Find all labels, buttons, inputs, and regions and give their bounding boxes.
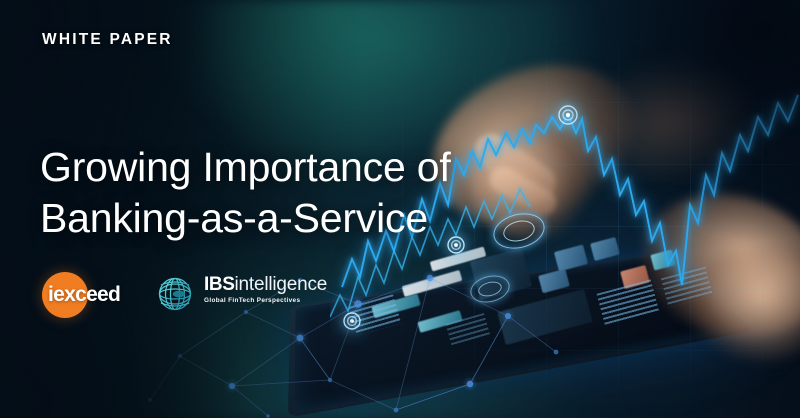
headline-line-1: Growing Importance of [40, 142, 451, 193]
ibs-tagline: Global FinTech Perspectives [204, 297, 327, 304]
iexceed-wordmark: iexceed [48, 283, 120, 307]
headline-line-2: Banking-as-a-Service [40, 193, 451, 244]
iexceed-logo: iexceed [42, 270, 152, 320]
globe-icon [152, 271, 198, 317]
white-paper-cover: WHITE PAPER Growing Importance of Bankin… [0, 0, 800, 418]
ibs-intelligence-logo: IBSintelligence Global FinTech Perspecti… [152, 268, 362, 322]
cover-content: WHITE PAPER Growing Importance of Bankin… [0, 0, 800, 418]
ibs-wordmark: IBSintelligence Global FinTech Perspecti… [204, 274, 327, 304]
eyebrow-label: WHITE PAPER [42, 31, 173, 49]
ibs-word-light: intelligence [234, 274, 327, 295]
ibs-word-bold: IBS [204, 274, 234, 295]
page-title: Growing Importance of Banking-as-a-Servi… [40, 142, 451, 244]
